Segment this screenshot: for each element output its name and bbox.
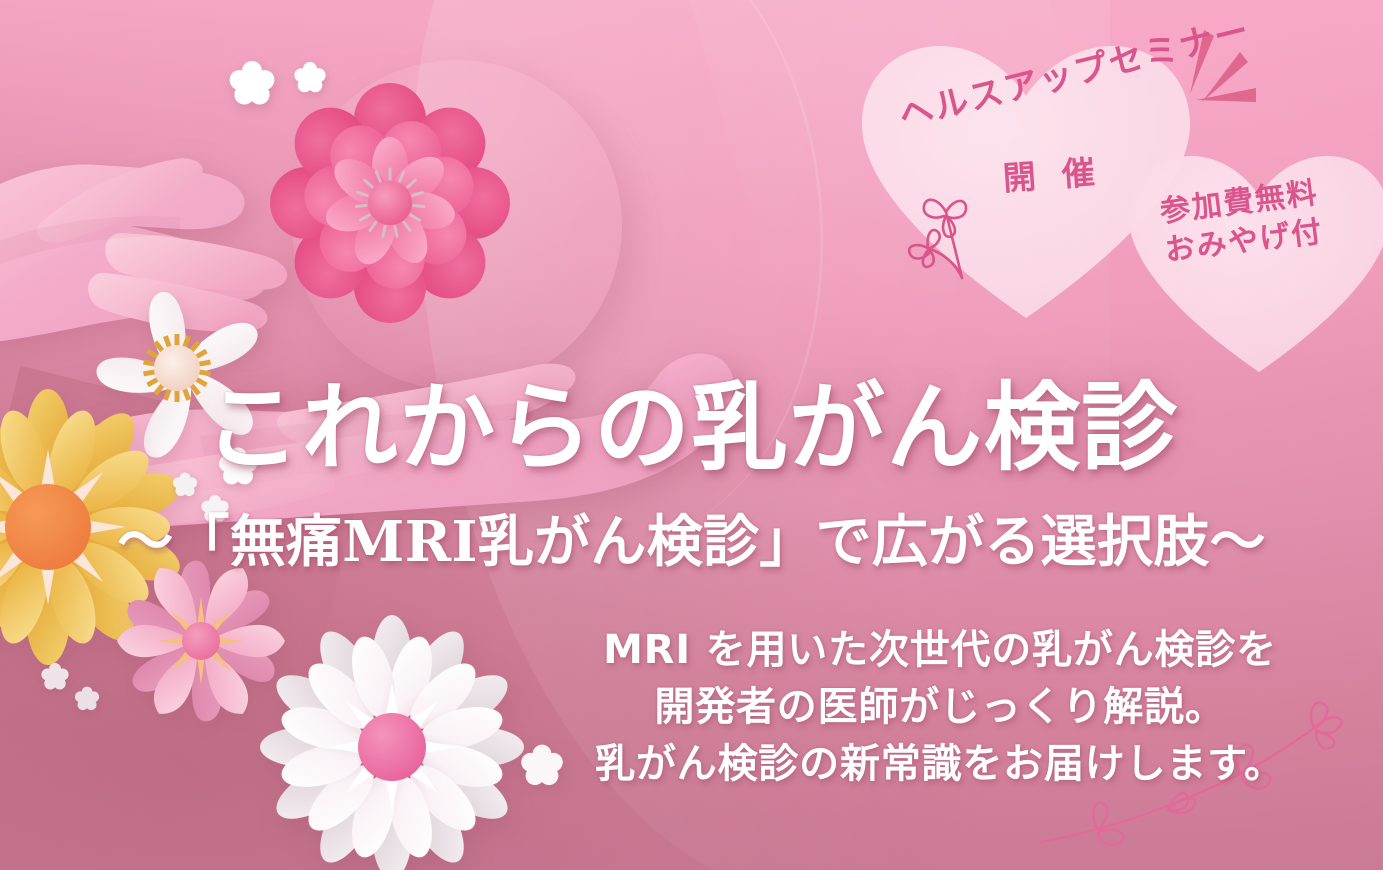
heart-badge-seminar-line2: 開 催: [1002, 151, 1104, 200]
blossom-small: [72, 684, 102, 714]
blossom-small: [224, 56, 280, 112]
doodle-flower-sprig: [898, 186, 1038, 306]
lead-line-3: 乳がん検診の新常識をお届けします。: [500, 736, 1380, 793]
seminar-banner: ヘルスアップセミナー 開 催 参加費無料 おみやげ付 これからの乳がん検診 〜「…: [0, 0, 1383, 870]
lead-paragraph: MRI を用いた次世代の乳がん検診を 開発者の医師がじっくり解説。 乳がん検診の…: [500, 622, 1380, 792]
page-subtitle: 〜「無痛MRI乳がん検診」で広がる選択肢〜: [0, 497, 1383, 578]
lead-line-2: 開発者の医師がじっくり解説。: [500, 679, 1380, 736]
page-title: これからの乳がん検診: [0, 376, 1383, 482]
lead-line-1: MRI を用いた次世代の乳がん検診を: [500, 622, 1380, 679]
flower-white-daisy: [270, 625, 530, 870]
blossom-small: [290, 58, 330, 98]
blossom-small: [38, 660, 72, 694]
